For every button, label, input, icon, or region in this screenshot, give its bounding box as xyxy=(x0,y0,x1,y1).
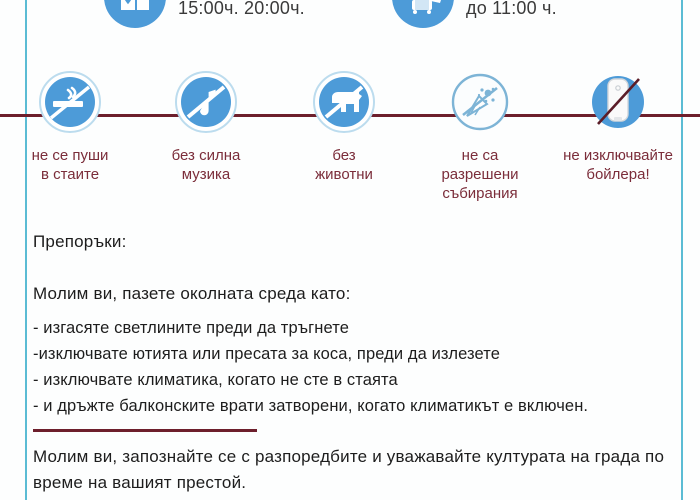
rule-item-no-loud-music: без силна музика xyxy=(140,70,272,184)
poster-page: Настаняване: 15:00ч. 20:00ч. Освобождава… xyxy=(0,0,700,500)
no-parties-icon xyxy=(448,70,512,134)
rule-caption: не изключвайте бойлера! xyxy=(552,146,684,184)
no-pets-icon xyxy=(312,70,376,134)
rule-item-no-parties: не са разрешени събирания xyxy=(414,70,546,204)
location-building-icon xyxy=(104,0,166,28)
rule-caption: не се пуши в стаите xyxy=(4,146,136,184)
rule-caption: без силна музика xyxy=(140,146,272,184)
recommendation-bullet: - и дръжте балконските врати затворени, … xyxy=(33,393,678,419)
rule-caption: не са разрешени събирания xyxy=(414,146,546,204)
recommendation-bullet: - изгасяте светлините преди да тръгнете xyxy=(33,315,678,341)
rule-caption: без животни xyxy=(278,146,410,184)
plane-luggage-icon xyxy=(392,0,454,28)
rule-item-no-smoking: не се пуши в стаите xyxy=(4,70,136,184)
check-out-info: Освобождаване: до 11:00 ч. xyxy=(392,0,616,28)
check-out-value: до 11:00 ч. xyxy=(466,0,616,20)
house-rules-row: не се пуши в стаите без силна музика xyxy=(0,70,700,230)
rule-item-do-not-turn-off-boiler: не изключвайте бойлера! xyxy=(552,70,684,184)
no-loud-music-icon xyxy=(174,70,238,134)
section-divider xyxy=(33,429,257,432)
recommendations-intro: Молим ви, пазете околната среда като: xyxy=(33,284,678,304)
recommendation-bullet: - изключвате климатика, когато не сте в … xyxy=(33,367,678,393)
no-smoking-icon xyxy=(38,70,102,134)
closing-note: Молим ви, запознайте се с разпоредбите и… xyxy=(33,444,673,495)
top-info-strip: Настаняване: 15:00ч. 20:00ч. Освобождава… xyxy=(0,0,700,46)
check-in-info: Настаняване: 15:00ч. 20:00ч. xyxy=(104,0,305,28)
recommendation-bullet: -изключвате ютията или пресата за коса, … xyxy=(33,341,678,367)
rule-item-no-pets: без животни xyxy=(278,70,410,184)
recommendations-heading: Препоръки: xyxy=(33,232,678,252)
recommendations-section: Препоръки: Молим ви, пазете околната сре… xyxy=(33,232,678,419)
check-in-value: 15:00ч. 20:00ч. xyxy=(178,0,305,20)
do-not-turn-off-boiler-icon xyxy=(586,70,650,134)
